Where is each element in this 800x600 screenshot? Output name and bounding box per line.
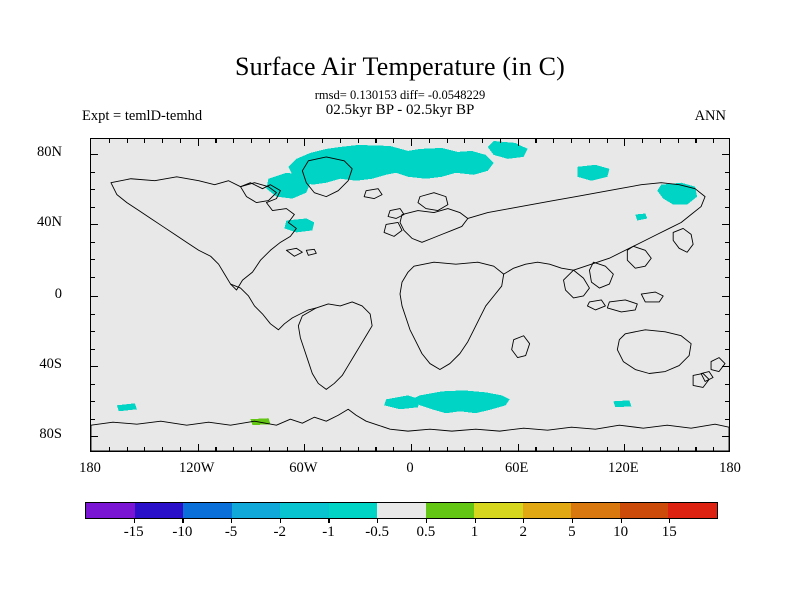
x-minor-tick (660, 139, 661, 143)
x-minor-tick (713, 447, 714, 451)
y-minor-tick (725, 172, 729, 173)
colorbar-tick-2 (231, 519, 232, 523)
y-minor-tick (91, 189, 95, 190)
colorbar-segment-12 (668, 503, 717, 518)
x-tick-60E (518, 444, 519, 451)
y-tick-40S (91, 366, 98, 367)
y-minor-tick (91, 277, 95, 278)
y-tick-80N-right (722, 154, 729, 155)
colorbar-segment-0 (86, 503, 135, 518)
figure-canvas: Surface Air Temperature (in C) rmsd= 0.1… (0, 0, 800, 600)
y-tick-80S-right (722, 436, 729, 437)
x-axis-label-180E: 180 (670, 460, 790, 477)
y-tick-40N (91, 224, 98, 225)
x-minor-tick (109, 447, 110, 451)
x-tick-120E (624, 444, 625, 451)
colorbar-segment-3 (232, 503, 281, 518)
x-minor-tick (322, 139, 323, 143)
x-minor-tick (144, 447, 145, 451)
y-minor-tick (725, 384, 729, 385)
y-minor-tick (91, 419, 95, 420)
statistics-line: rmsd= 0.130153 diff= -0.0548229 (0, 88, 800, 103)
x-minor-tick (393, 139, 394, 143)
season-label: ANN (695, 108, 726, 125)
y-minor-tick (91, 314, 95, 315)
x-tick-120W (198, 444, 199, 451)
y-minor-tick (725, 349, 729, 350)
x-minor-tick (162, 139, 163, 143)
x-minor-tick (482, 139, 483, 143)
y-minor-tick (91, 401, 95, 402)
x-minor-tick (269, 447, 270, 451)
x-minor-tick (447, 447, 448, 451)
y-minor-tick (91, 172, 95, 173)
x-minor-tick (695, 139, 696, 143)
colorbar-tick-8 (523, 519, 524, 523)
colorbar-segment-1 (135, 503, 184, 518)
colorbar-tick-7 (475, 519, 476, 523)
y-minor-tick (91, 384, 95, 385)
x-minor-tick (642, 447, 643, 451)
x-minor-tick (535, 139, 536, 143)
x-axis-label-60E: 60E (457, 460, 577, 477)
x-minor-tick (571, 139, 572, 143)
x-minor-tick (233, 139, 234, 143)
experiment-label: Expt = temlD-temhd (82, 108, 202, 125)
x-minor-tick (695, 447, 696, 451)
y-tick-80S (91, 436, 98, 437)
x-minor-tick (375, 447, 376, 451)
y-tick-40S-right (722, 366, 729, 367)
y-tick-40N-right (722, 224, 729, 225)
x-tick-0 (411, 444, 412, 451)
y-tick-80N (91, 154, 98, 155)
x-minor-tick (607, 447, 608, 451)
y-minor-tick (725, 189, 729, 190)
x-minor-tick (447, 139, 448, 143)
x-minor-tick (482, 447, 483, 451)
x-minor-tick (571, 447, 572, 451)
x-axis-label-120E: 120E (563, 460, 683, 477)
y-axis-label-40N: 40N (0, 214, 62, 231)
x-minor-tick (660, 447, 661, 451)
x-minor-tick (144, 139, 145, 143)
colorbar-tick-11 (669, 519, 670, 523)
x-minor-tick (678, 447, 679, 451)
map-plot-area (90, 138, 730, 452)
colorbar-label-11: 15 (634, 524, 704, 541)
y-axis-label-80N: 80N (0, 144, 62, 161)
x-minor-tick (358, 139, 359, 143)
colorbar-tick-9 (572, 519, 573, 523)
y-tick-0 (91, 296, 98, 297)
x-minor-tick (464, 447, 465, 451)
x-minor-tick (127, 447, 128, 451)
y-minor-tick (725, 314, 729, 315)
x-axis-label-180W: 180 (30, 460, 150, 477)
y-axis-label-0: 0 (0, 286, 62, 303)
y-minor-tick (725, 419, 729, 420)
colorbar-tick-0 (134, 519, 135, 523)
x-minor-tick (340, 139, 341, 143)
x-minor-tick (340, 447, 341, 451)
colorbar-tick-4 (328, 519, 329, 523)
x-minor-tick (500, 139, 501, 143)
y-minor-tick (91, 207, 95, 208)
x-minor-tick (162, 447, 163, 451)
x-tick-0-top (411, 139, 412, 146)
x-minor-tick (393, 447, 394, 451)
x-tick-60W-top (304, 139, 305, 146)
x-minor-tick (251, 139, 252, 143)
page-title: Surface Air Temperature (in C) (0, 52, 800, 82)
x-tick-120E-top (624, 139, 625, 146)
y-minor-tick (725, 259, 729, 260)
colorbar-segment-11 (620, 503, 669, 518)
x-minor-tick (127, 139, 128, 143)
x-minor-tick (251, 447, 252, 451)
x-minor-tick (215, 139, 216, 143)
x-minor-tick (429, 139, 430, 143)
x-minor-tick (553, 139, 554, 143)
x-minor-tick (500, 447, 501, 451)
x-minor-tick (678, 139, 679, 143)
x-axis-label-120W: 120W (137, 460, 257, 477)
colorbar-segment-9 (523, 503, 572, 518)
y-axis-label-80S: 80S (0, 426, 62, 443)
y-minor-tick (725, 401, 729, 402)
x-minor-tick (642, 139, 643, 143)
x-minor-tick (322, 447, 323, 451)
colorbar-segment-2 (183, 503, 232, 518)
x-tick-60W (304, 444, 305, 451)
colorbar-segment-7 (426, 503, 475, 518)
x-minor-tick (553, 447, 554, 451)
x-minor-tick (713, 139, 714, 143)
colorbar (85, 502, 718, 519)
colorbar-segment-10 (571, 503, 620, 518)
x-minor-tick (269, 139, 270, 143)
colorbar-segment-5 (329, 503, 378, 518)
colorbar-tick-6 (426, 519, 427, 523)
y-minor-tick (91, 349, 95, 350)
x-minor-tick (109, 139, 110, 143)
x-minor-tick (535, 447, 536, 451)
x-tick-120W-top (198, 139, 199, 146)
x-minor-tick (233, 447, 234, 451)
x-minor-tick (287, 139, 288, 143)
y-minor-tick (725, 242, 729, 243)
y-minor-tick (91, 242, 95, 243)
x-minor-tick (464, 139, 465, 143)
x-minor-tick (180, 139, 181, 143)
x-tick-60E-top (518, 139, 519, 146)
x-minor-tick (287, 447, 288, 451)
x-minor-tick (358, 447, 359, 451)
world-map (91, 139, 729, 451)
x-minor-tick (180, 447, 181, 451)
y-minor-tick (725, 207, 729, 208)
y-minor-tick (725, 331, 729, 332)
colorbar-tick-3 (280, 519, 281, 523)
colorbar-segment-6 (377, 503, 426, 518)
x-axis-label-60W: 60W (243, 460, 363, 477)
x-minor-tick (375, 139, 376, 143)
colorbar-tick-10 (621, 519, 622, 523)
colorbar-tick-1 (182, 519, 183, 523)
x-axis-label-0: 0 (350, 460, 470, 477)
x-minor-tick (589, 139, 590, 143)
x-minor-tick (429, 447, 430, 451)
y-axis-label-40S: 40S (0, 356, 62, 373)
x-minor-tick (215, 447, 216, 451)
colorbar-segment-4 (280, 503, 329, 518)
x-minor-tick (607, 139, 608, 143)
x-minor-tick (589, 447, 590, 451)
colorbar-segment-8 (474, 503, 523, 518)
colorbar-tick-5 (377, 519, 378, 523)
y-minor-tick (725, 277, 729, 278)
y-minor-tick (91, 331, 95, 332)
y-tick-0-right (722, 296, 729, 297)
y-minor-tick (91, 259, 95, 260)
